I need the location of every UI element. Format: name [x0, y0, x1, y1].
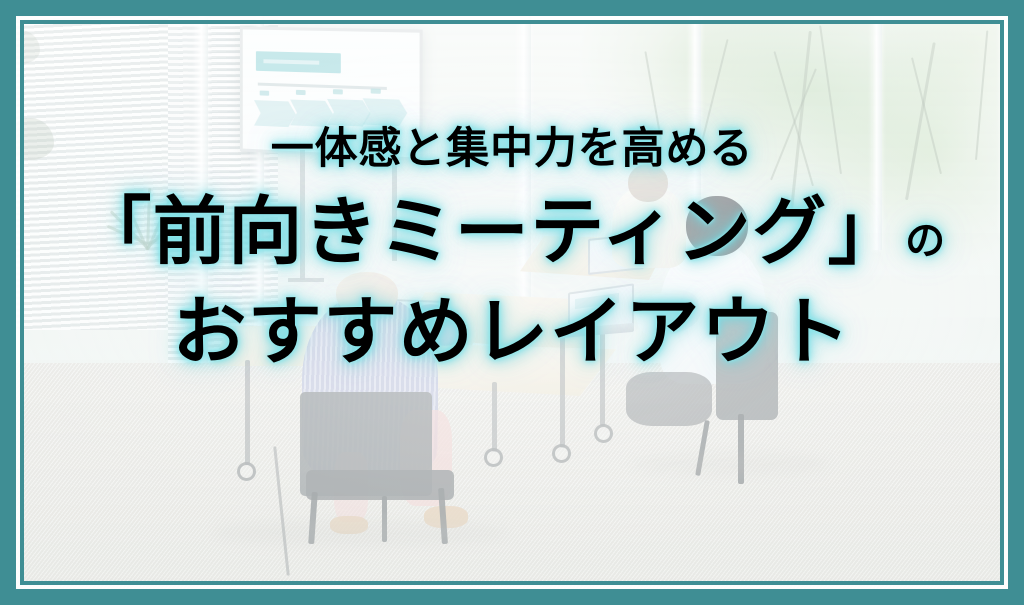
slide-step-label-3: [333, 89, 343, 94]
slide-chevron-1: [254, 100, 296, 127]
screen-stand-post: [300, 150, 305, 280]
office-chair-seat: [306, 470, 454, 500]
slide-step-label-1: [260, 91, 269, 96]
table-leg: [245, 360, 250, 465]
slide-step-label-4: [371, 88, 381, 93]
floor-shadow: [630, 452, 830, 476]
table-caster: [594, 424, 613, 443]
window-mullion: [518, 0, 531, 300]
article-hero-banner: 一体感と集中力を高める 「前向きミーティング」の おすすめレイアウト: [0, 0, 1024, 605]
slide-chevron-4: [363, 98, 408, 126]
window-mullion: [1000, 0, 1009, 236]
window-mullion: [196, 0, 208, 392]
table-caster: [552, 444, 571, 463]
table-leg: [492, 382, 497, 452]
person-far-head: [628, 164, 668, 202]
slide-chevron-2: [290, 100, 333, 128]
background-photo: [0, 0, 1024, 605]
screen-stand-post: [392, 146, 397, 261]
window-mullion: [872, 0, 882, 250]
slide-step-label-2: [296, 90, 306, 95]
screen-stand-foot: [288, 278, 324, 282]
presentation-screen: [240, 26, 423, 161]
floor-shadow: [210, 520, 510, 546]
office-chair-back: [716, 312, 778, 420]
palm-plant: [112, 188, 182, 268]
slide-subtitle-line: [258, 83, 387, 90]
person-right-leg: [626, 372, 712, 426]
indoor-plant-corner: [0, 30, 40, 64]
window-header-rail: [520, 0, 1020, 7]
table-caster: [484, 448, 503, 467]
table-leg: [560, 330, 565, 448]
table-caster: [237, 462, 256, 481]
carpet-floor: [0, 363, 1024, 605]
slide-title-bar: [256, 51, 341, 73]
person-right-head: [686, 196, 748, 256]
indoor-plant-left: [6, 118, 54, 160]
person-front-head: [336, 272, 398, 316]
